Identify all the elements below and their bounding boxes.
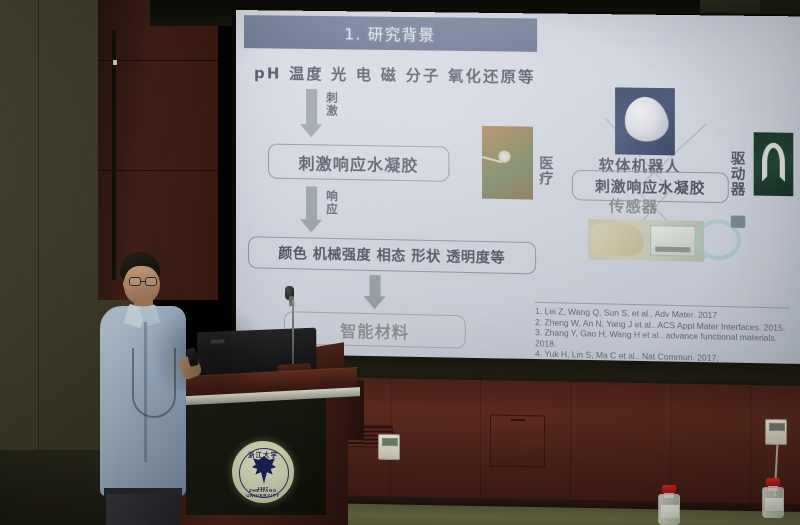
arrow-stimulus-icon — [300, 89, 322, 137]
stimuli-list: pH 温度 光 电 磁 分子 氧化还原等 — [254, 62, 536, 87]
lecture-hall-photo: 1. 研究背景 pH 温度 光 电 磁 分子 氧化还原等 刺激 刺激响应水凝胶 … — [0, 0, 800, 525]
arrow-response-label: 响应 — [326, 190, 340, 215]
door-glint — [113, 60, 117, 65]
arrow-to-smart-material-icon — [363, 275, 385, 310]
presenter — [96, 252, 206, 525]
box-stimuli-responsive-hydrogel: 刺激响应水凝胶 — [268, 144, 449, 182]
medical-image — [482, 126, 533, 200]
slide-content: 1. 研究背景 pH 温度 光 电 磁 分子 氧化还原等 刺激 刺激响应水凝胶 … — [236, 10, 800, 376]
hand-sensor-image — [588, 219, 704, 262]
label-actuator: 驱动器 — [731, 152, 747, 198]
box-response-properties: 颜色 机械强度 相态 形状 透明度等 — [248, 236, 536, 274]
wall-access-panel — [490, 415, 545, 468]
presenter-lanyard — [132, 348, 176, 418]
soft-robot-image — [615, 87, 675, 155]
emblem-name-en: ZHEJIANG UNIVERSITY — [233, 488, 293, 498]
thermostat-icon[interactable] — [765, 419, 787, 445]
label-medical: 医疗 — [539, 157, 554, 188]
glasses-icon — [129, 277, 159, 286]
water-bottle[interactable] — [762, 478, 784, 518]
arrow-response-icon — [300, 186, 322, 233]
reference-list: 1. Lei Z, Wang Q, Sun S, et al.. Adv Mat… — [535, 306, 799, 366]
slide-title: 1. 研究背景 — [344, 22, 435, 45]
door-edge — [112, 30, 116, 280]
arrow-stimulus-label: 刺激 — [326, 91, 340, 116]
thermostat-icon[interactable] — [378, 434, 400, 460]
podium-front-panel: 浙江大学 1897 ZHEJIANG UNIVERSITY — [186, 395, 326, 515]
slide-title-band: 1. 研究背景 — [244, 15, 537, 52]
microphone-stem — [292, 300, 294, 366]
cluster-center-box: 刺激响应水凝胶 — [572, 170, 729, 203]
projection-screen: 1. 研究背景 pH 温度 光 电 磁 分子 氧化还原等 刺激 刺激响应水凝胶 … — [236, 10, 800, 376]
application-cluster: 软体机器人 医疗 驱动器 传感器 刺激响应水凝胶 — [535, 88, 798, 296]
presenter-trousers — [106, 494, 180, 525]
zhejiang-university-emblem-icon: 浙江大学 1897 ZHEJIANG UNIVERSITY — [232, 441, 294, 503]
water-bottle[interactable] — [658, 485, 680, 525]
wearable-band-image — [689, 213, 753, 267]
actuator-image — [754, 132, 794, 196]
